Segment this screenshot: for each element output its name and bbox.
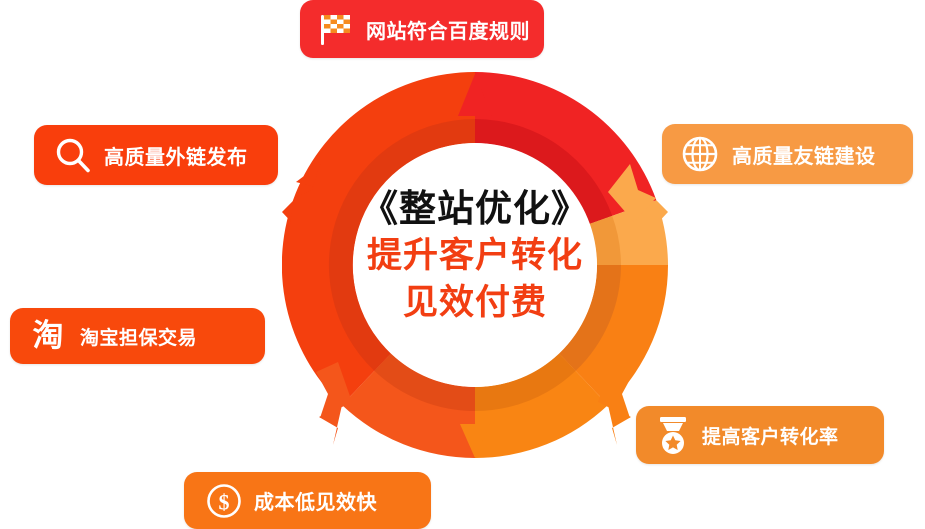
- badge-label: 提高客户转化率: [702, 422, 839, 449]
- segmented-ring: [282, 72, 668, 458]
- badge-friendlink-building[interactable]: 高质量友链建设: [662, 124, 913, 184]
- badge-label: 网站符合百度规则: [366, 15, 530, 44]
- checkered-flag-icon: [316, 12, 358, 46]
- badge-outlink-publish[interactable]: 高质量外链发布: [34, 125, 278, 185]
- infographic-canvas: 《整站优化》 提升客户转化 见效付费: [0, 0, 925, 529]
- badge-conversion-rate[interactable]: 提高客户转化率: [636, 406, 884, 464]
- medal-star-icon: [652, 414, 694, 456]
- taobao-logo-icon: 淘: [26, 316, 70, 356]
- badge-low-cost[interactable]: $ 成本低见效快: [184, 472, 431, 529]
- badge-label: 高质量外链发布: [104, 141, 248, 170]
- svg-text:$: $: [219, 489, 230, 514]
- badge-label: 成本低见效快: [254, 486, 377, 515]
- badge-label: 淘宝担保交易: [80, 323, 197, 350]
- ring-graphic: [282, 72, 668, 458]
- badge-taobao-escrow[interactable]: 淘 淘宝担保交易: [10, 308, 265, 364]
- ring-inner-hole: [353, 143, 597, 387]
- search-icon: [52, 135, 94, 175]
- badge-baidu-rules[interactable]: 网站符合百度规则: [300, 0, 544, 58]
- globe-icon: [678, 133, 722, 175]
- badge-label: 高质量友链建设: [732, 140, 876, 169]
- dollar-coin-icon: $: [204, 481, 244, 521]
- ring-segments: [282, 72, 668, 458]
